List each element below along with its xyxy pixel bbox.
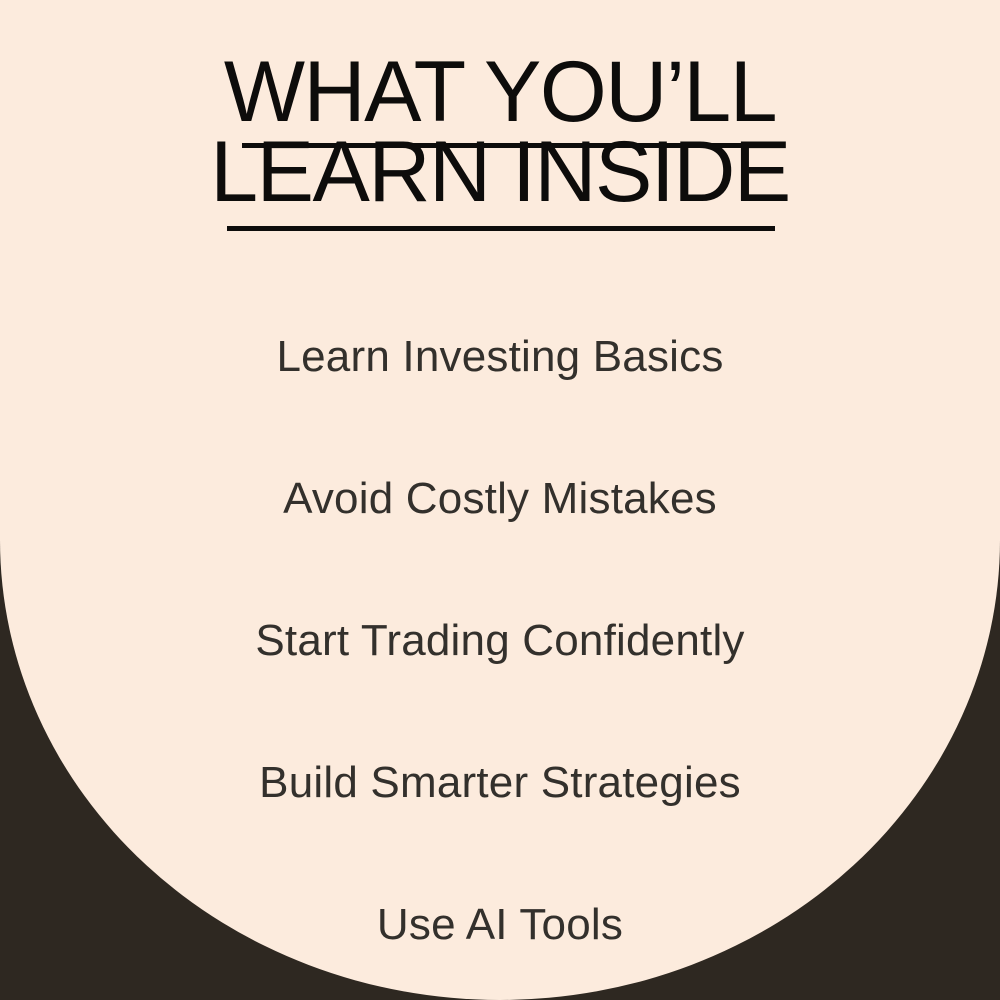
list-item: Learn Investing Basics [0, 286, 1000, 428]
page-title: WHAT YOU’LL LEARN INSIDE [0, 52, 1000, 212]
list-item: Build Smarter Strategies [0, 712, 1000, 854]
title-underline-top [242, 143, 761, 148]
title-underline-bottom [227, 226, 775, 231]
poster-canvas: WHAT YOU’LL LEARN INSIDE Learn Investing… [0, 0, 1000, 1000]
list-item: Avoid Costly Mistakes [0, 428, 1000, 570]
poster-content: WHAT YOU’LL LEARN INSIDE Learn Investing… [0, 0, 1000, 1000]
list-item: Use AI Tools [0, 854, 1000, 996]
list-item: Start Trading Confidently [0, 570, 1000, 712]
page-title-line-1: WHAT YOU’LL [0, 52, 1000, 132]
benefits-list: Learn Investing Basics Avoid Costly Mist… [0, 286, 1000, 996]
